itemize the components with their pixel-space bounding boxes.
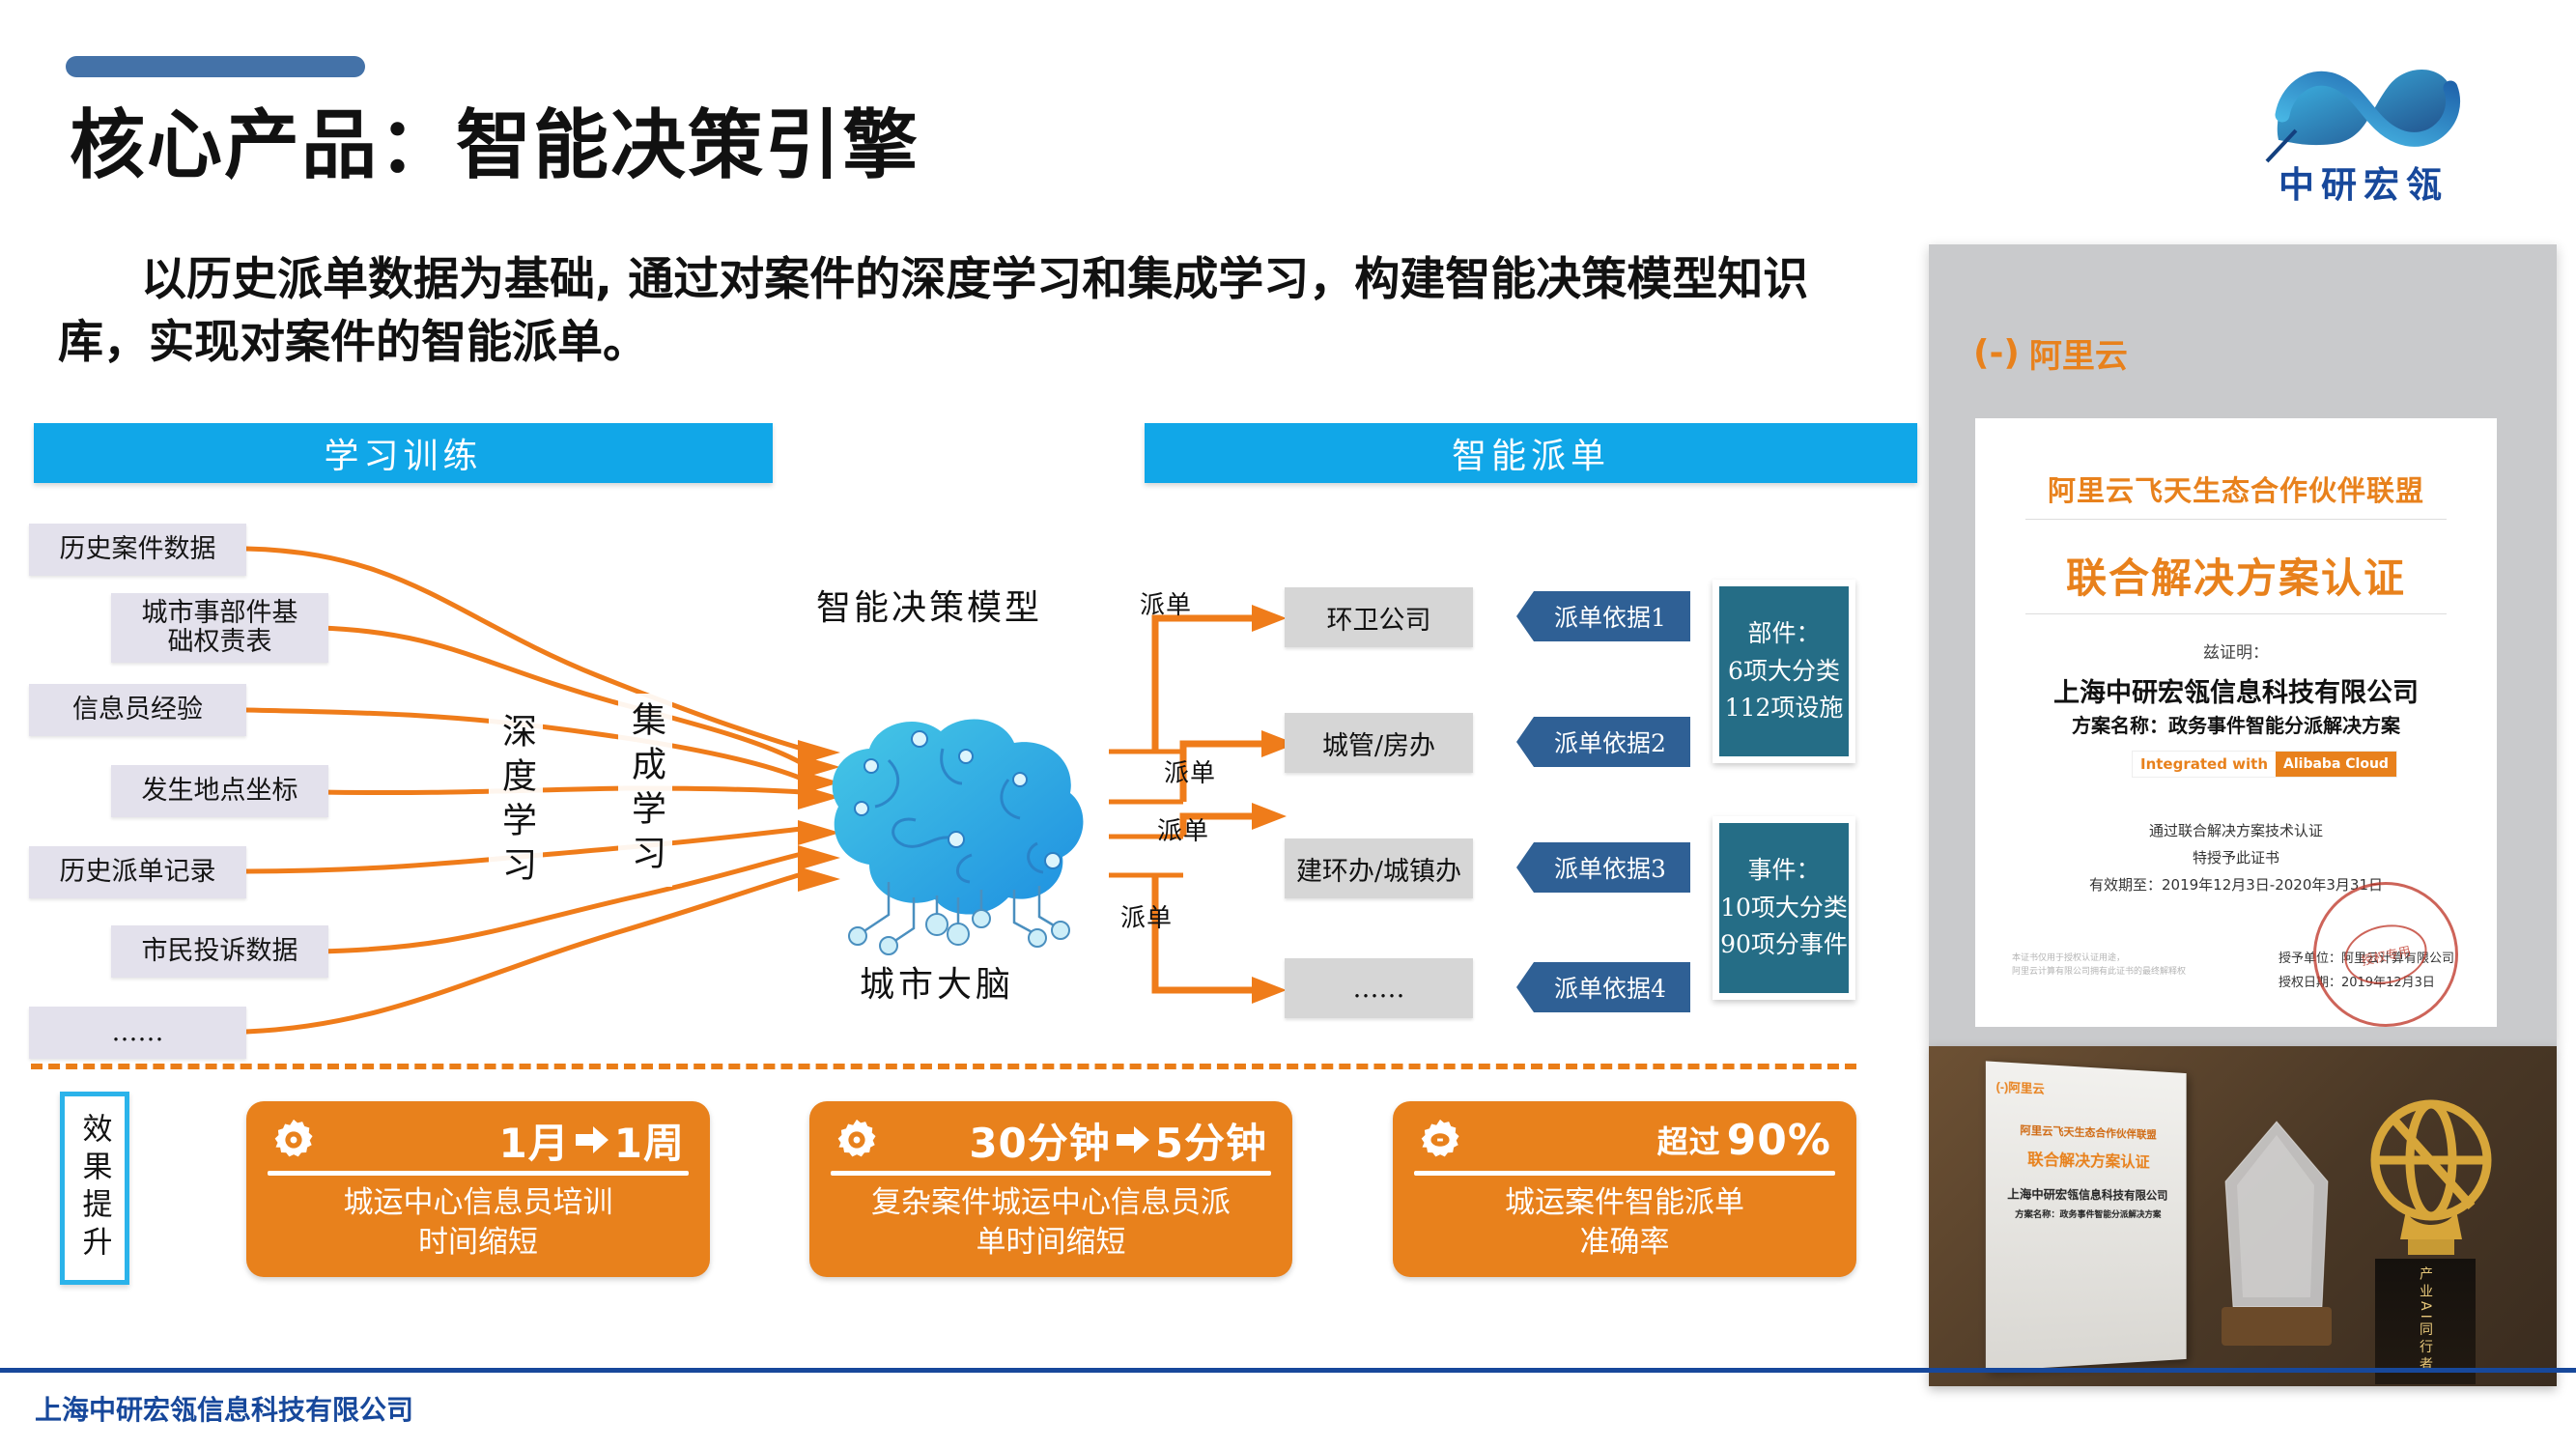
metric-from: 超过 [1657,1118,1721,1162]
target-box: …… [1285,958,1473,1018]
stat-box-components: 部件： 6项大分类 112项设施 [1713,580,1855,763]
result-card-metric: 超过 90% [1657,1116,1831,1165]
metric-from: 30分钟 [969,1111,1110,1170]
cert-company: 上海中研宏瓴信息科技有限公司 [1975,671,2497,709]
source-chip: 信息员经验 [29,684,246,736]
edge-label-dispatch: 派单 [1164,753,1216,789]
footer-company: 上海中研宏瓴信息科技有限公司 [35,1389,413,1428]
result-card-rule [831,1171,1271,1176]
stat-box-line1: 6项大分类 [1728,653,1840,691]
target-box: 建环办/城镇办 [1285,838,1473,898]
result-card-desc: 复杂案件城运中心信息员派 单时间缩短 [831,1183,1271,1263]
stat-box-line2: 112项设施 [1725,690,1844,727]
result-card-rule [1414,1171,1835,1176]
result-card-top: 1月 1周 [268,1113,689,1167]
cert-divider [2025,519,2447,520]
gear-icon [1418,1118,1462,1162]
stat-box-line2: 90项分事件 [1720,926,1848,964]
trophy-plinth-text: 产业AI同行者 [2416,1266,2435,1375]
result-card-rule [268,1171,689,1176]
stat-box-title: 部件： [1747,615,1820,653]
stat-box-title: 事件： [1747,852,1820,890]
result-card-metric: 30分钟 5分钟 [969,1111,1267,1170]
result-card-metric: 1月 1周 [499,1111,685,1170]
result-card: 超过 90% 城运案件智能派单 准确率 [1393,1101,1856,1277]
footer-rule [0,1368,2576,1373]
company-logo: 中研宏瓴 [2211,43,2520,217]
source-chip: 城市事部件基 础权责表 [111,593,328,663]
cert-fine-print: 本证书仅用于授权认证用途， 阿里云计算有限公司拥有此证书的最终解释权 [2012,952,2186,980]
brain-icon [800,691,1118,980]
certificate-image: (-) 阿里云 阿里云飞天生态合作伙伴联盟 联合解决方案认证 兹证明： 上海中研… [1929,244,2557,1046]
section-header-dispatch: 智能派单 [1145,423,1917,483]
metric-to: 1周 [614,1111,685,1170]
page-title: 核心产品：智能决策引擎 [70,85,920,193]
certificate-paper: 阿里云飞天生态合作伙伴联盟 联合解决方案认证 兹证明： 上海中研宏瓴信息科技有限… [1975,418,2497,1027]
photo-cert-line2: 联合解决方案认证 [1996,1145,2178,1172]
photo-cert-line1: 阿里云飞天生态合作伙伴联盟 [1996,1121,2178,1142]
stage-label-deep-learning: 深度学习 [489,705,543,898]
alibaba-cloud-cn: 阿里云 [2029,329,2128,377]
arrow-right-icon [1117,1125,1149,1154]
cert-title: 联合解决方案认证 [1975,546,2497,605]
basis-tag: 派单依据2 [1516,717,1690,767]
section-header-training: 学习训练 [34,423,773,483]
edge-label-dispatch: 派单 [1140,585,1192,621]
photo-cert-brand: (-)阿里云 [1996,1078,2178,1104]
stage-label-ensemble-learning: 集成学习 [618,694,672,887]
metric-to: 90% [1727,1116,1831,1165]
company-logo-text: 中研宏瓴 [2279,156,2449,208]
alibaba-bracket-icon: (-) [1973,333,2020,373]
gear-icon [835,1118,879,1162]
target-box: 城管/房办 [1285,713,1473,773]
metric-from: 1月 [499,1111,570,1170]
title-accent-bar [66,56,365,77]
basis-tag: 派单依据4 [1516,962,1690,1012]
crystal-award-icon [2214,1114,2339,1355]
photo-certificate: (-)阿里云 阿里云飞天生态合作伙伴联盟 联合解决方案认证 上海中研宏瓴信息科技… [1986,1061,2187,1371]
infinity-ribbon-logo-icon [2261,47,2483,163]
metric-to: 5分钟 [1155,1111,1267,1170]
model-label: 智能决策模型 [816,580,1042,630]
gear-icon [271,1118,316,1162]
slide-root: 核心产品：智能决策引擎 以历史派单数据为基础, 通过对案件的深度学习和集成学习，… [0,0,2576,1449]
basis-tag: 派单依据1 [1516,591,1690,641]
cert-award-line: 特授予此证书 [1975,847,2497,867]
result-card-desc: 城运中心信息员培训 时间缩短 [268,1183,689,1263]
cert-solution: 方案名称：政务事件智能分派解决方案 [1975,710,2497,738]
cert-alliance-line: 阿里云飞天生态合作伙伴联盟 [1975,469,2497,509]
alibaba-cloud-logo: (-) 阿里云 [1973,329,2128,377]
photo-cert-company: 上海中研宏瓴信息科技有限公司 [1996,1185,2178,1204]
page-subtitle: 以历史派单数据为基础, 通过对案件的深度学习和集成学习，构建智能决策模型知识库，… [58,249,1874,375]
stat-box-events: 事件： 10项大分类 90项分事件 [1713,816,1855,1000]
result-card-desc: 城运案件智能派单 准确率 [1414,1183,1835,1263]
source-chip: 发生地点坐标 [111,765,328,817]
edge-label-dispatch: 派单 [1157,811,1209,847]
effect-label-text: 效果提升 [73,1113,117,1264]
edge-label-dispatch: 派单 [1120,898,1173,934]
cert-preamble: 兹证明： [1975,639,2497,663]
result-card-top: 超过 90% [1414,1113,1835,1167]
source-chip: 历史案件数据 [29,524,246,576]
source-chip: 市民投诉数据 [111,925,328,978]
brain-label: 城市大脑 [860,956,1014,1007]
stat-box-line1: 10项大分类 [1720,890,1848,927]
result-card: 30分钟 5分钟 复杂案件城运中心信息员派 单时间缩短 [809,1101,1292,1277]
integrated-label: Integrated with [2133,755,2276,773]
integrated-with-badge: Integrated with Alibaba Cloud [2132,751,2397,778]
arrow-right-icon [576,1125,609,1154]
cert-pass-line: 通过联合解决方案技术认证 [1975,820,2497,840]
trophy-plinth: 产业AI同行者 [2375,1259,2476,1384]
source-chip: 历史派单记录 [29,846,246,898]
award-photo: (-)阿里云 阿里云飞天生态合作伙伴联盟 联合解决方案认证 上海中研宏瓴信息科技… [1929,1046,2557,1386]
result-card-top: 30分钟 5分钟 [831,1113,1271,1167]
photo-cert-solution: 方案名称：政务事件智能分派解决方案 [1996,1207,2178,1221]
basis-tag: 派单依据3 [1516,842,1690,893]
target-box: 环卫公司 [1285,587,1473,647]
brain-graphic [800,691,1118,980]
section-divider [31,1064,1856,1069]
source-chip: …… [29,1007,246,1059]
integrated-brand: Alibaba Cloud [2276,752,2396,777]
source-chip-label: 城市事部件基 础权责表 [142,599,298,657]
effect-label-box: 效果提升 [60,1092,129,1285]
cert-divider [2025,613,2447,614]
result-card: 1月 1周 城运中心信息员培训 时间缩短 [246,1101,710,1277]
seal-inner-text: 授权专用 [2339,918,2433,992]
